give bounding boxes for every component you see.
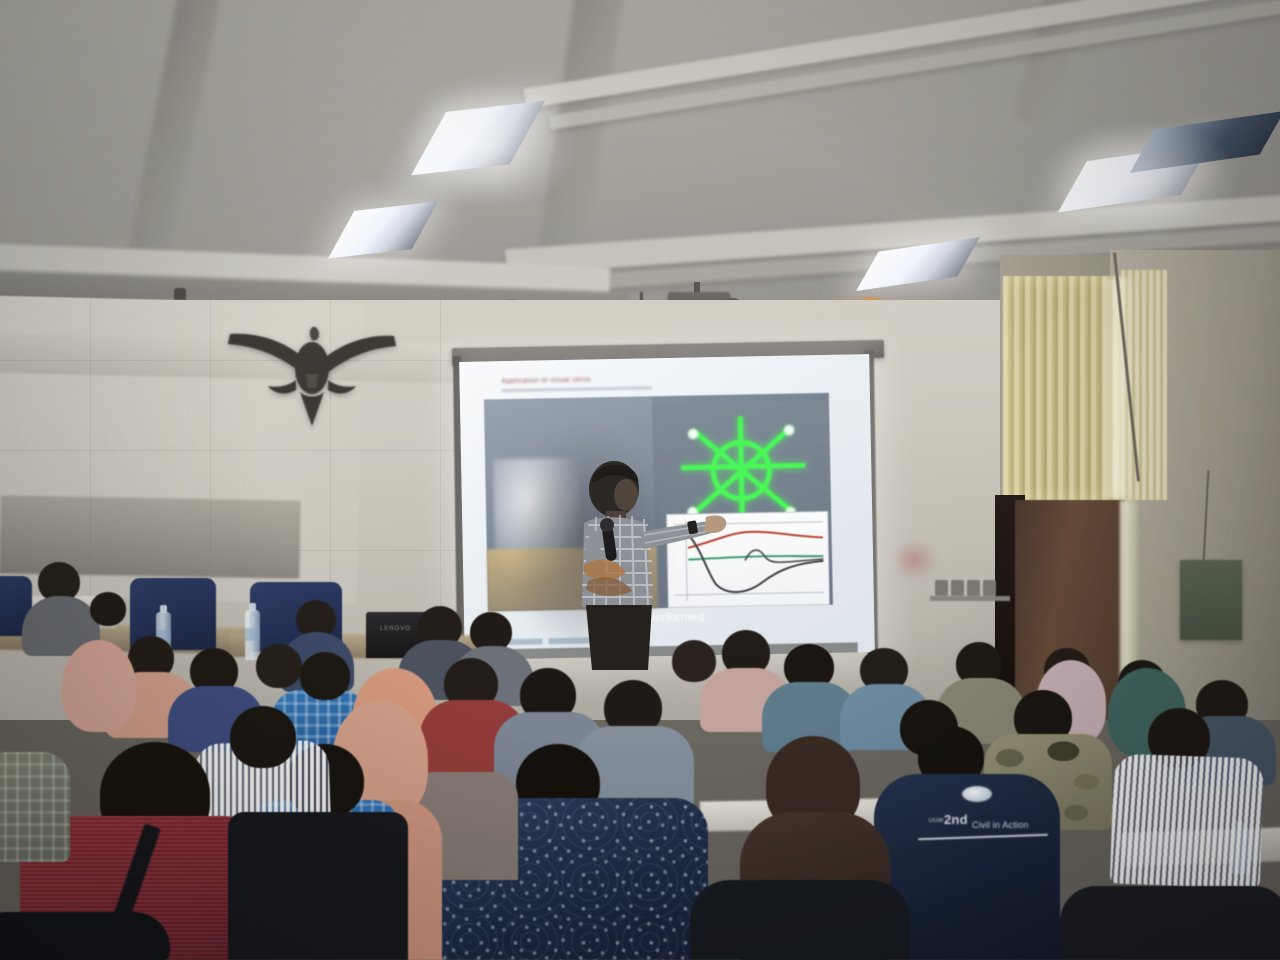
jacket-print-2nd: 2nd [944, 812, 968, 827]
light-glow [1040, 120, 1240, 240]
wall-notice-board [1180, 560, 1242, 640]
light-glow [400, 80, 580, 210]
garuda-emblem-icon [222, 318, 402, 428]
striped-shirt [1110, 753, 1264, 888]
jacket-print-event: Civil in Action [972, 820, 1029, 830]
laptop-brand-label: LENOVO [380, 626, 411, 632]
presenter-silhouette [548, 455, 728, 670]
wall-stain [890, 540, 938, 580]
jacket-badge [962, 786, 992, 802]
photograph-scene: Application of visual servo [0, 0, 1280, 960]
wall-socket-icon[interactable] [935, 580, 1005, 598]
hijab [62, 640, 136, 732]
backpack [228, 812, 408, 960]
plaid-shirt [0, 752, 70, 862]
water-bottle[interactable] [245, 610, 260, 660]
